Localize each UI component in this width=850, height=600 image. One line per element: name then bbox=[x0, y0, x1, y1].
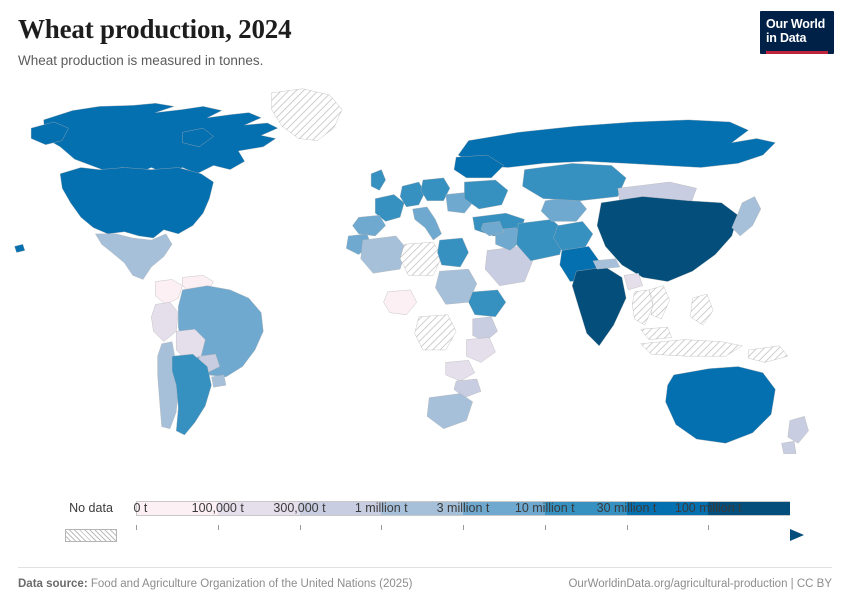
owid-logo-rule bbox=[766, 51, 828, 54]
legend-tick-label-0: 0 t bbox=[133, 501, 147, 515]
legend-tick-label-6: 30 million t bbox=[597, 501, 657, 515]
country-per[interactable]: Peru bbox=[151, 302, 178, 341]
country-tha[interactable]: Thailand bbox=[632, 289, 653, 324]
data-source-label: Data source: bbox=[18, 578, 88, 590]
country-ita[interactable]: Italy bbox=[413, 207, 442, 240]
owid-logo-line1: Our World bbox=[766, 18, 828, 32]
legend-tick-0 bbox=[136, 525, 137, 530]
country-zaf[interactable]: South Africa bbox=[427, 393, 473, 428]
map-legend: No data0 t100,000 t300,000 t1 million t3… bbox=[0, 501, 850, 567]
attribution-link[interactable]: OurWorldinData.org/agricultural-producti… bbox=[568, 578, 832, 590]
legend-inner[interactable]: No data0 t100,000 t300,000 t1 million t3… bbox=[18, 501, 832, 567]
country-rus[interactable]: Russia bbox=[458, 119, 775, 167]
legend-tick-label-5: 10 million t bbox=[515, 501, 575, 515]
country-tza[interactable]: Tanzania bbox=[466, 337, 495, 362]
country-chl[interactable]: Chile bbox=[158, 341, 179, 428]
legend-tick-7 bbox=[708, 525, 709, 530]
country-can[interactable]: Canada bbox=[44, 103, 278, 173]
legend-tick-5 bbox=[545, 525, 546, 530]
legend-tick-label-2: 300,000 t bbox=[273, 501, 325, 515]
country-usa[interactable]: United States bbox=[15, 244, 25, 252]
legend-tick-label-4: 3 million t bbox=[437, 501, 490, 515]
country-ind[interactable]: India bbox=[572, 267, 626, 346]
country-arg[interactable]: Argentina bbox=[172, 354, 211, 435]
country-mex[interactable]: Mexico bbox=[95, 233, 172, 279]
country-mys[interactable]: Malaysia bbox=[641, 327, 672, 339]
country-idn[interactable]: Indonesia bbox=[641, 339, 743, 356]
country-chn[interactable]: China bbox=[597, 196, 738, 281]
data-source-text: Food and Agriculture Organization of the… bbox=[91, 578, 413, 590]
country-layer[interactable]: CanadaCanadaUnited StatesUnited StatesUn… bbox=[15, 88, 809, 453]
country-nga[interactable]: Nigeria bbox=[384, 289, 417, 314]
legend-tick-4 bbox=[463, 525, 464, 530]
country-dza[interactable]: Algeria bbox=[361, 236, 407, 273]
legend-no-data-swatch[interactable] bbox=[65, 529, 117, 542]
chart-root: Wheat production, 2024 Wheat production … bbox=[0, 0, 850, 600]
country-zmb[interactable]: Zambia bbox=[446, 360, 475, 381]
legend-tick-2 bbox=[300, 525, 301, 530]
country-eth[interactable]: Ethiopia bbox=[469, 289, 506, 316]
legend-tick-1 bbox=[218, 525, 219, 530]
legend-open-end-arrow bbox=[790, 529, 804, 541]
owid-logo[interactable]: Our World in Data bbox=[760, 11, 834, 54]
country-pol[interactable]: Poland bbox=[421, 177, 450, 200]
country-nzl[interactable]: New Zealand bbox=[782, 441, 797, 453]
chart-subtitle: Wheat production is measured in tonnes. bbox=[18, 52, 832, 70]
chart-header: Wheat production, 2024 Wheat production … bbox=[0, 0, 850, 70]
chart-footer: Data source: Food and Agriculture Organi… bbox=[18, 567, 832, 600]
country-phl[interactable]: Philippines bbox=[690, 294, 713, 325]
world-choropleth-map[interactable]: CanadaCanadaUnited StatesUnited StatesUn… bbox=[0, 70, 850, 501]
country-gbr[interactable]: United Kingdom bbox=[371, 169, 386, 190]
country-esp[interactable]: Spain bbox=[352, 215, 385, 236]
country-egy[interactable]: Egypt bbox=[437, 238, 468, 267]
country-cod[interactable]: DR Congo bbox=[415, 314, 456, 349]
country-npl[interactable]: Nepal bbox=[593, 258, 620, 268]
legend-tick-label-3: 1 million t bbox=[355, 501, 408, 515]
page-title: Wheat production, 2024 bbox=[18, 14, 832, 45]
country-lby[interactable]: Libya bbox=[400, 242, 441, 275]
country-nzl[interactable]: New Zealand bbox=[788, 416, 809, 443]
map-svg[interactable]: CanadaCanadaUnited StatesUnited StatesUn… bbox=[0, 70, 850, 501]
country-grl[interactable]: Greenland bbox=[272, 88, 342, 140]
owid-logo-line2: in Data bbox=[766, 32, 828, 46]
legend-tick-label-7: 100 million t bbox=[675, 501, 742, 515]
country-usa[interactable]: United States bbox=[60, 167, 213, 237]
legend-tick-label-1: 100,000 t bbox=[192, 501, 244, 515]
country-col[interactable]: Colombia bbox=[155, 279, 182, 304]
data-source: Data source: Food and Agriculture Organi… bbox=[18, 578, 412, 590]
legend-tick-6 bbox=[627, 525, 628, 530]
legend-no-data-label: No data bbox=[69, 501, 113, 515]
country-aus[interactable]: Australia bbox=[665, 366, 775, 443]
legend-tick-3 bbox=[381, 525, 382, 530]
country-ury[interactable]: Uruguay bbox=[211, 374, 226, 386]
country-kaz[interactable]: Kazakhstan bbox=[522, 163, 626, 200]
country-png[interactable]: Papua New Guinea bbox=[748, 345, 787, 362]
country-afg[interactable]: Afghanistan bbox=[554, 221, 593, 250]
